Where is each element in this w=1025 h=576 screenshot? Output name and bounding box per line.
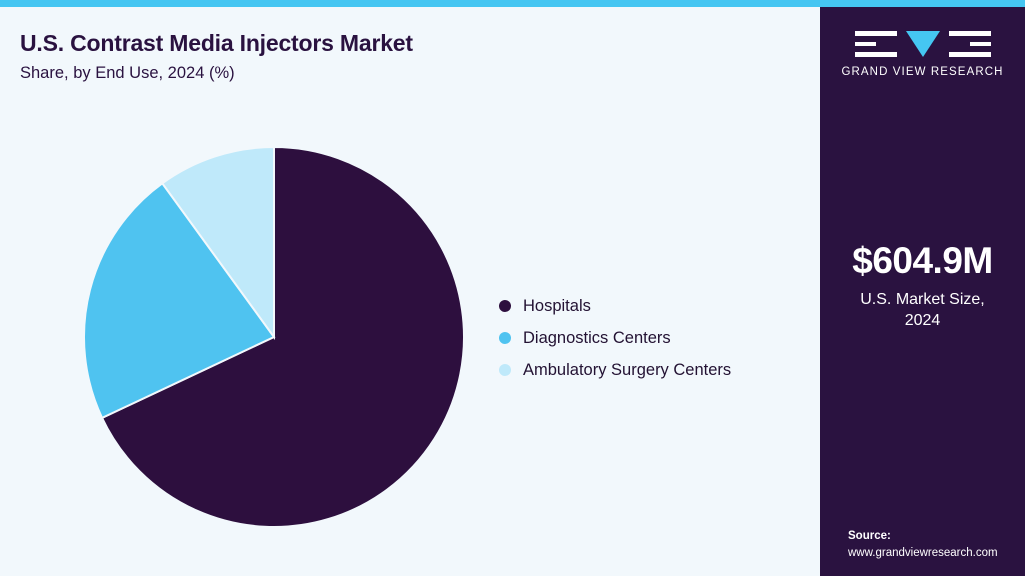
logo-right-bracket-icon xyxy=(949,31,991,57)
source-label: Source: xyxy=(848,528,1025,545)
source-url[interactable]: www.grandviewresearch.com xyxy=(848,545,1025,562)
legend-item-diagnostics-centers[interactable]: Diagnostics Centers xyxy=(499,322,799,354)
legend-swatch-ambulatory-surgery-centers xyxy=(499,364,511,376)
legend-swatch-hospitals xyxy=(499,300,511,312)
stat-caption-line2: 2024 xyxy=(820,310,1025,331)
chart-legend: Hospitals Diagnostics Centers Ambulatory… xyxy=(499,290,799,386)
pie-chart-svg xyxy=(82,145,466,529)
legend-item-ambulatory-surgery-centers[interactable]: Ambulatory Surgery Centers xyxy=(499,354,799,386)
legend-item-hospitals[interactable]: Hospitals xyxy=(499,290,799,322)
logo-left-bracket-icon xyxy=(855,31,897,57)
title-block: U.S. Contrast Media Injectors Market Sha… xyxy=(20,29,780,84)
legend-label-hospitals: Hospitals xyxy=(523,297,591,316)
stat-value: $604.9M xyxy=(820,239,1025,283)
accent-top-bar xyxy=(0,0,1025,7)
stat-caption-line1: U.S. Market Size, xyxy=(820,289,1025,310)
legend-label-ambulatory-surgery-centers: Ambulatory Surgery Centers xyxy=(523,361,731,380)
stat-caption: U.S. Market Size, 2024 xyxy=(820,289,1025,331)
brand-logo: GRAND VIEW RESEARCH xyxy=(820,29,1025,78)
side-panel: GRAND VIEW RESEARCH $604.9M U.S. Market … xyxy=(820,7,1025,576)
logo-triangle-icon xyxy=(906,31,940,57)
logo-marks xyxy=(820,29,1025,59)
page-title: U.S. Contrast Media Injectors Market xyxy=(20,29,780,57)
legend-label-diagnostics-centers: Diagnostics Centers xyxy=(523,329,671,348)
pie-chart xyxy=(82,145,466,529)
source-block: Source: www.grandviewresearch.com xyxy=(848,528,1025,562)
legend-swatch-diagnostics-centers xyxy=(499,332,511,344)
logo-text: GRAND VIEW RESEARCH xyxy=(820,66,1025,78)
market-size-stat: $604.9M U.S. Market Size, 2024 xyxy=(820,239,1025,331)
chart-card: U.S. Contrast Media Injectors Market Sha… xyxy=(0,0,1025,576)
chart-panel: U.S. Contrast Media Injectors Market Sha… xyxy=(0,7,820,576)
page-subtitle: Share, by End Use, 2024 (%) xyxy=(20,62,780,84)
